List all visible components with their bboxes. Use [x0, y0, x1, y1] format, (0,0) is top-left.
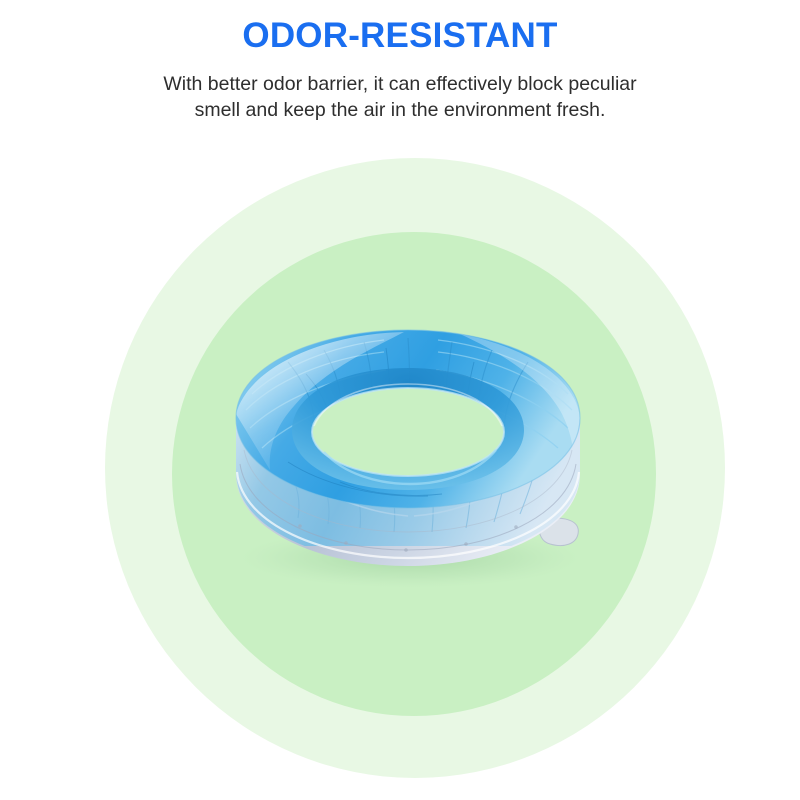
feature-description-line-1: With better odor barrier, it can effecti… — [100, 72, 700, 98]
product-feature-panel: ODOR-RESISTANT With better odor barrier,… — [0, 0, 800, 800]
product-image — [228, 322, 588, 588]
feature-description-line-2: smell and keep the air in the environmen… — [100, 98, 700, 124]
product-illustration — [228, 322, 588, 588]
feature-description: With better odor barrier, it can effecti… — [100, 72, 700, 123]
feature-title: ODOR-RESISTANT — [0, 18, 800, 55]
